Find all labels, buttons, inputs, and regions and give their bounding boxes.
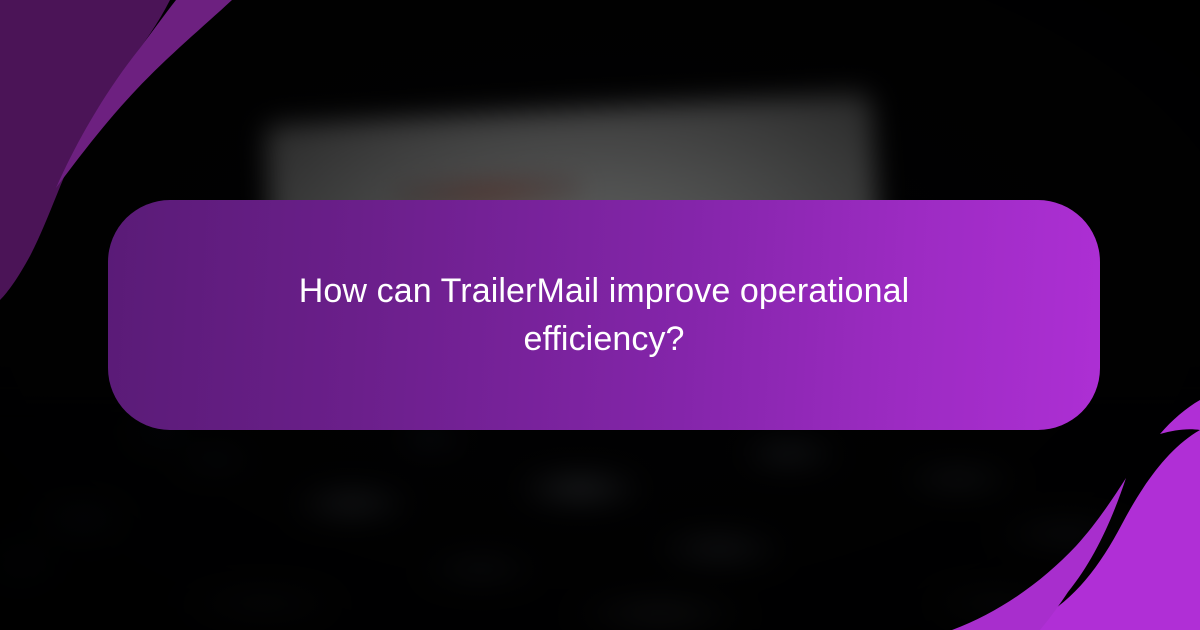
question-text: How can TrailerMail improve operational …	[254, 267, 954, 364]
question-card[interactable]: How can TrailerMail improve operational …	[108, 200, 1100, 430]
share-card-canvas: How can TrailerMail improve operational …	[0, 0, 1200, 630]
